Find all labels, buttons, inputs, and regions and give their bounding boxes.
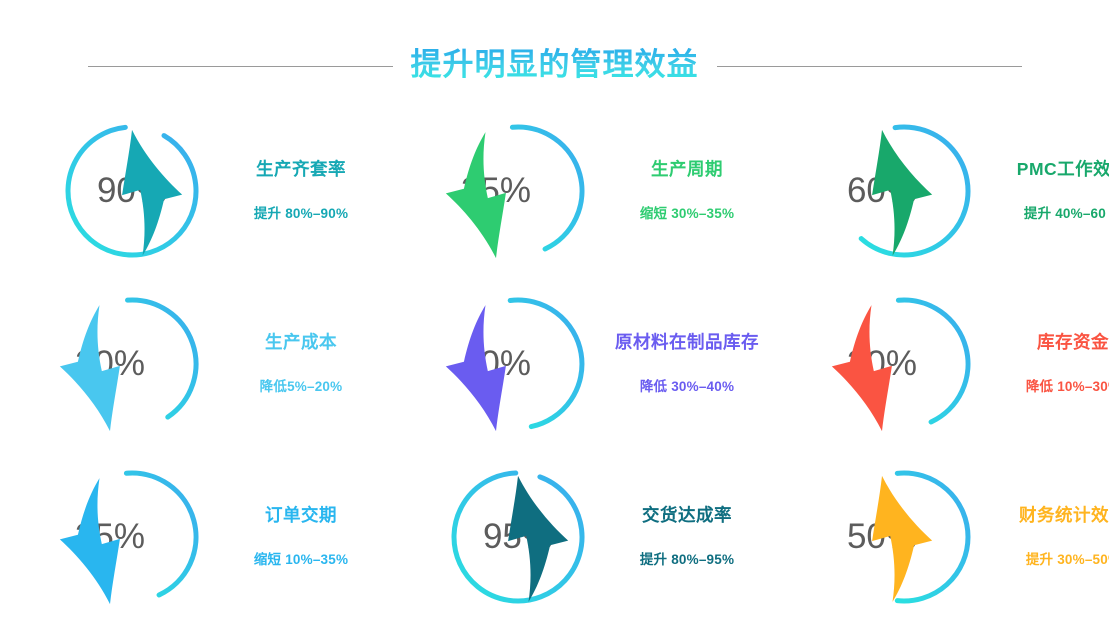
metric-card: 95%交货达成率提升 80%–95% — [386, 450, 772, 623]
gauge-center: 40% — [426, 294, 566, 434]
arrow-up-icon — [812, 124, 952, 264]
metric-labels: 生产周期缩短 30%–35% — [602, 159, 772, 222]
gauge-center: 50% — [812, 467, 952, 607]
gauge-ring: 40% — [448, 294, 588, 434]
arrow-up-icon — [448, 470, 588, 610]
metric-title: 生产齐套率 — [256, 159, 346, 180]
arrow-up-icon — [62, 124, 202, 264]
metric-labels: 订单交期缩短 10%–35% — [216, 505, 386, 568]
gauge-center: 30% — [812, 294, 952, 434]
title-rule-right — [717, 66, 1022, 67]
gauge-center: 35% — [426, 121, 566, 261]
metric-card: 60%PMC工作效率提升 40%–60 % — [772, 104, 1109, 277]
metric-subtitle: 缩短 10%–35% — [254, 552, 348, 568]
gauge-ring: 35% — [448, 121, 588, 261]
arrow-down-icon — [40, 297, 180, 437]
metric-labels: 交货达成率提升 80%–95% — [602, 505, 772, 568]
metric-card: 35%订单交期缩短 10%–35% — [0, 450, 386, 623]
metric-title: 交货达成率 — [642, 505, 732, 526]
metric-title: 生产周期 — [651, 159, 723, 180]
metric-subtitle: 提升 80%–90% — [254, 206, 348, 222]
gauge-center: 60% — [812, 121, 952, 261]
gauge-ring: 95% — [448, 467, 588, 607]
metric-subtitle: 提升 30%–50% — [1026, 552, 1109, 568]
arrow-down-icon — [426, 124, 566, 264]
gauge-ring: 20% — [62, 294, 202, 434]
arrow-down-icon — [812, 297, 952, 437]
metric-title: 原材料在制品库存 — [615, 332, 759, 353]
metric-card: 35%生产周期缩短 30%–35% — [386, 104, 772, 277]
metric-title: PMC工作效率 — [1017, 159, 1109, 180]
metric-title: 财务统计效率 — [1019, 505, 1109, 526]
gauge-center: 95% — [448, 467, 588, 607]
metric-subtitle: 降低5%–20% — [260, 379, 343, 395]
metric-subtitle: 提升 40%–60 % — [1024, 206, 1109, 222]
metric-labels: 财务统计效率提升 30%–50% — [988, 505, 1109, 568]
metric-card: 30%库存资金降低 10%–30% — [772, 277, 1109, 450]
metric-card: 40%原材料在制品库存降低 30%–40% — [386, 277, 772, 450]
metric-card: 20%生产成本降低5%–20% — [0, 277, 386, 450]
metric-labels: 库存资金降低 10%–30% — [988, 332, 1109, 395]
metric-title: 订单交期 — [265, 505, 337, 526]
metric-labels: 生产成本降低5%–20% — [216, 332, 386, 395]
page-header: 提升明显的管理效益 — [0, 38, 1109, 94]
title-rule-left — [88, 66, 393, 67]
gauge-ring: 30% — [834, 294, 974, 434]
gauge-ring: 50% — [834, 467, 974, 607]
gauge-center: 90% — [62, 121, 202, 261]
metric-title: 生产成本 — [265, 332, 337, 353]
metric-card: 90%生产齐套率提升 80%–90% — [0, 104, 386, 277]
gauge-ring: 60% — [834, 121, 974, 261]
metric-subtitle: 降低 30%–40% — [640, 379, 734, 395]
gauge-ring: 90% — [62, 121, 202, 261]
gauge-center: 35% — [40, 467, 180, 607]
metric-title: 库存资金 — [1037, 332, 1109, 353]
metric-labels: 原材料在制品库存降低 30%–40% — [602, 332, 772, 395]
arrow-up-icon — [812, 470, 952, 610]
metric-labels: 生产齐套率提升 80%–90% — [216, 159, 386, 222]
metric-labels: PMC工作效率提升 40%–60 % — [988, 159, 1109, 222]
arrow-down-icon — [40, 470, 180, 610]
metrics-grid: 90%生产齐套率提升 80%–90%35%生产周期缩短 30%–35%60%PM… — [0, 104, 1109, 623]
metric-subtitle: 缩短 30%–35% — [640, 206, 734, 222]
arrow-down-icon — [426, 297, 566, 437]
metric-card: 50%财务统计效率提升 30%–50% — [772, 450, 1109, 623]
gauge-center: 20% — [40, 294, 180, 434]
gauge-ring: 35% — [62, 467, 202, 607]
page-title: 提升明显的管理效益 — [411, 45, 699, 87]
metric-subtitle: 提升 80%–95% — [640, 552, 734, 568]
metric-subtitle: 降低 10%–30% — [1026, 379, 1109, 395]
